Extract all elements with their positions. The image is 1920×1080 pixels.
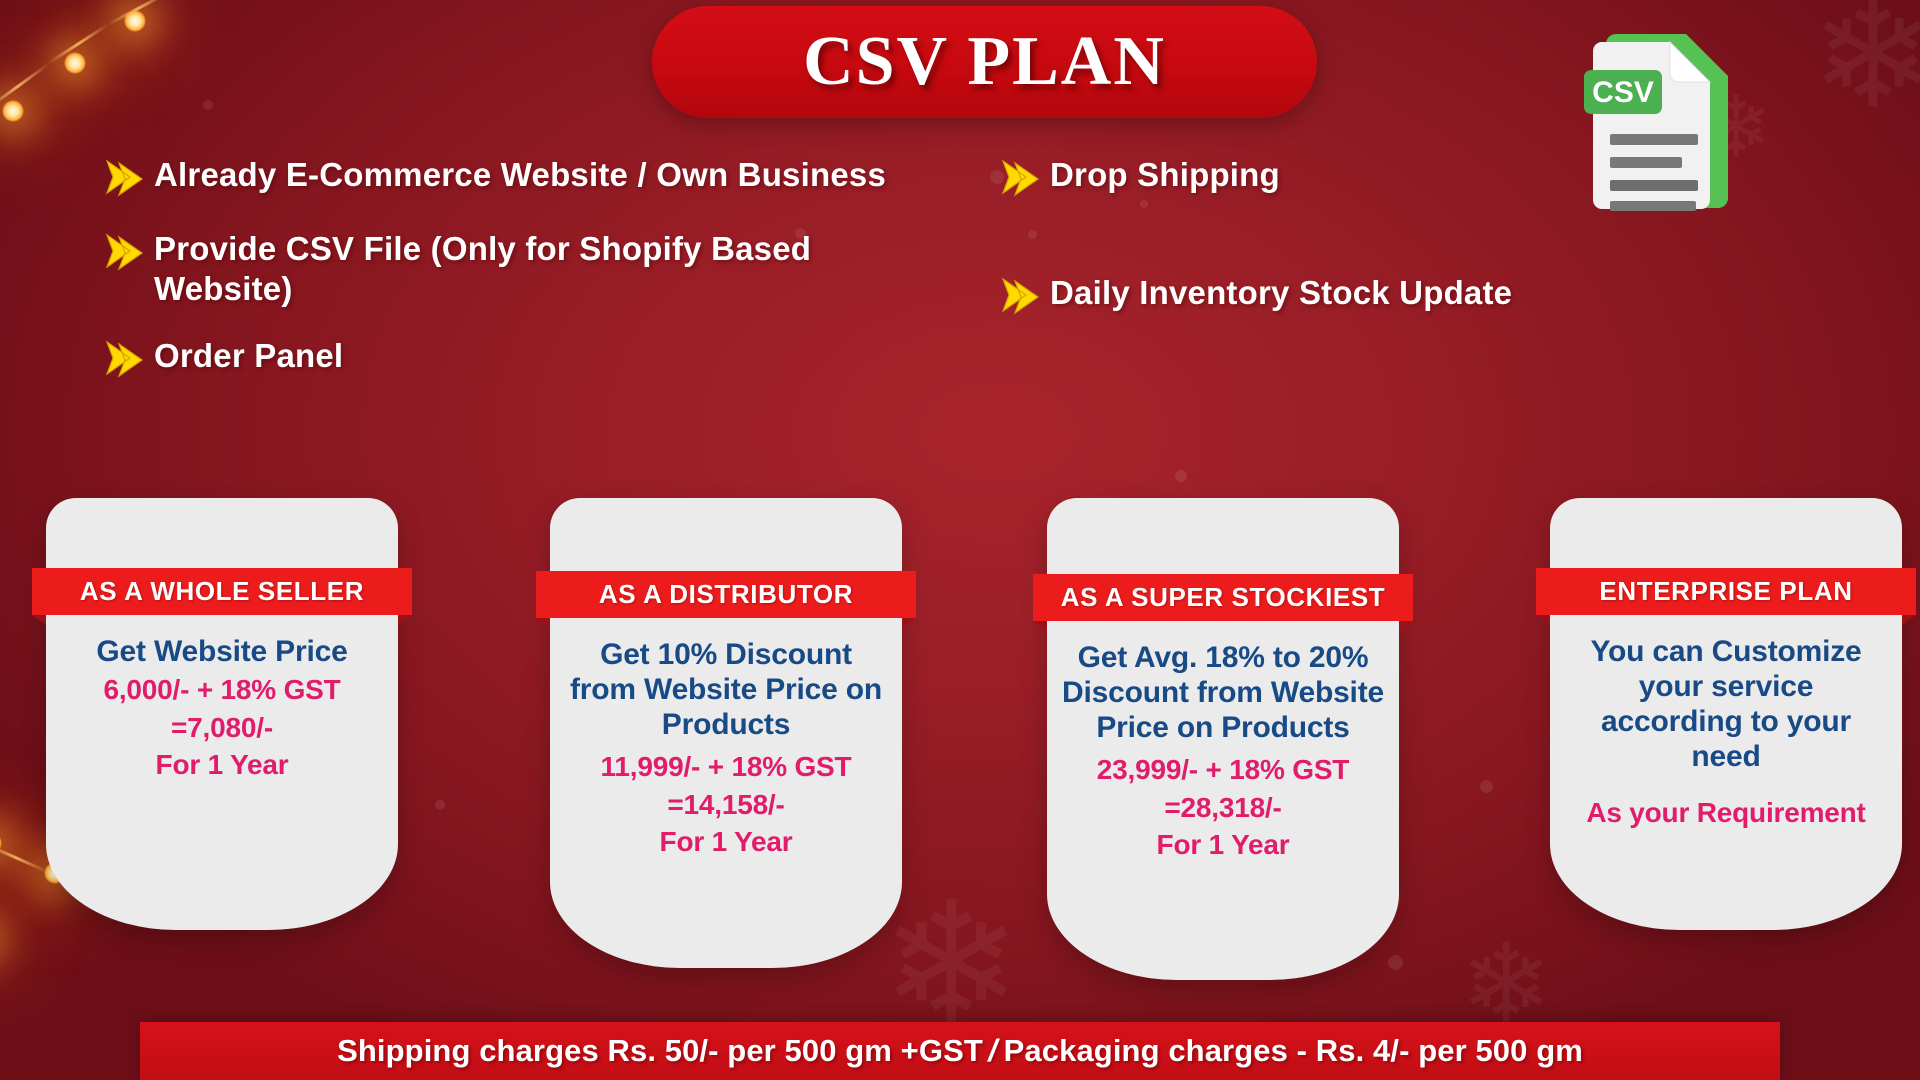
plan-card-body: You can Customize your service according… — [1550, 634, 1902, 830]
plan-ribbon-label: AS A DISTRIBUTOR — [599, 579, 853, 610]
plan-cards-row: AS A WHOLE SELLER Get Website Price 6,00… — [0, 498, 1920, 968]
plan-card-body: Get Website Price 6,000/- + 18% GST =7,0… — [46, 634, 398, 782]
string-lights-top-left — [0, 0, 210, 165]
double-chevron-right-icon — [1000, 157, 1040, 203]
footer-shipping-text: Shipping charges Rs. 50/- per 500 gm +GS… — [337, 1033, 983, 1069]
features-right-column: Drop Shipping Daily Inventory Stock Upda… — [1000, 155, 1720, 391]
bokeh-dot — [203, 100, 213, 110]
title-banner: CSV PLAN — [652, 6, 1317, 118]
feature-label: Daily Inventory Stock Update — [1050, 273, 1512, 313]
double-chevron-right-icon — [104, 338, 144, 384]
plan-price-line: For 1 Year — [564, 825, 888, 859]
feature-item: Daily Inventory Stock Update — [1000, 273, 1720, 321]
plan-price-line: For 1 Year — [1061, 828, 1385, 862]
feature-item: Drop Shipping — [1000, 155, 1720, 203]
plan-ribbon: AS A WHOLE SELLER — [32, 568, 412, 615]
footer-charges-bar: Shipping charges Rs. 50/- per 500 gm +GS… — [140, 1022, 1780, 1080]
plan-ribbon: ENTERPRISE PLAN — [1536, 568, 1916, 615]
feature-label: Order Panel — [154, 336, 343, 376]
plan-card-body: Get 10% Discount from Website Price on P… — [550, 637, 902, 859]
double-chevron-right-icon — [1000, 275, 1040, 321]
plan-card-super-stockiest[interactable]: AS A SUPER STOCKIEST Get Avg. 18% to 20%… — [1047, 498, 1399, 980]
plan-ribbon-label: AS A WHOLE SELLER — [80, 576, 364, 607]
snowflake-icon: ❄ — [1810, 0, 1920, 130]
plan-headline: Get Avg. 18% to 20% Discount from Websit… — [1061, 640, 1385, 745]
plan-card-distributor[interactable]: AS A DISTRIBUTOR Get 10% Discount from W… — [550, 498, 902, 968]
bokeh-dot — [1175, 470, 1187, 482]
double-chevron-right-icon — [104, 231, 144, 277]
plan-headline: You can Customize your service according… — [1564, 634, 1888, 774]
plan-price-line: 23,999/- + 18% GST — [1061, 753, 1385, 787]
footer-separator: / — [985, 1033, 1001, 1069]
plan-headline: Get Website Price — [60, 634, 384, 669]
plan-headline: Get 10% Discount from Website Price on P… — [564, 637, 888, 742]
plan-price-line: 11,999/- + 18% GST — [564, 750, 888, 784]
plan-price-line: =7,080/- — [60, 711, 384, 745]
plan-ribbon: AS A DISTRIBUTOR — [536, 571, 916, 618]
feature-label: Drop Shipping — [1050, 155, 1280, 195]
plan-price-line: 6,000/- + 18% GST — [60, 673, 384, 707]
plan-price-line: =14,158/- — [564, 788, 888, 822]
plan-ribbon: AS A SUPER STOCKIEST — [1033, 574, 1413, 621]
plan-ribbon-label: ENTERPRISE PLAN — [1599, 576, 1852, 607]
feature-item: Order Panel — [104, 336, 894, 384]
plan-card-enterprise[interactable]: ENTERPRISE PLAN You can Customize your s… — [1550, 498, 1902, 930]
feature-label: Already E-Commerce Website / Own Busines… — [154, 155, 886, 195]
features-left-column: Already E-Commerce Website / Own Busines… — [104, 155, 894, 410]
double-chevron-right-icon — [104, 157, 144, 203]
page-title: CSV PLAN — [803, 22, 1166, 102]
plan-ribbon-label: AS A SUPER STOCKIEST — [1061, 582, 1386, 613]
plan-card-body: Get Avg. 18% to 20% Discount from Websit… — [1047, 640, 1399, 862]
feature-label: Provide CSV File (Only for Shopify Based… — [154, 229, 894, 310]
poster-root: ❄ ❄ ❄ ❄ ❄ CSV PLAN CSV — [0, 0, 1920, 1080]
plan-card-whole-seller[interactable]: AS A WHOLE SELLER Get Website Price 6,00… — [46, 498, 398, 930]
plan-price-line: As your Requirement — [1564, 796, 1888, 830]
plan-price-line: =28,318/- — [1061, 791, 1385, 825]
plan-price-line: For 1 Year — [60, 748, 384, 782]
footer-packaging-text: Packaging charges - Rs. 4/- per 500 gm — [1004, 1033, 1583, 1069]
csv-badge-label: CSV — [1592, 76, 1654, 109]
feature-item: Provide CSV File (Only for Shopify Based… — [104, 229, 894, 310]
feature-item: Already E-Commerce Website / Own Busines… — [104, 155, 894, 203]
